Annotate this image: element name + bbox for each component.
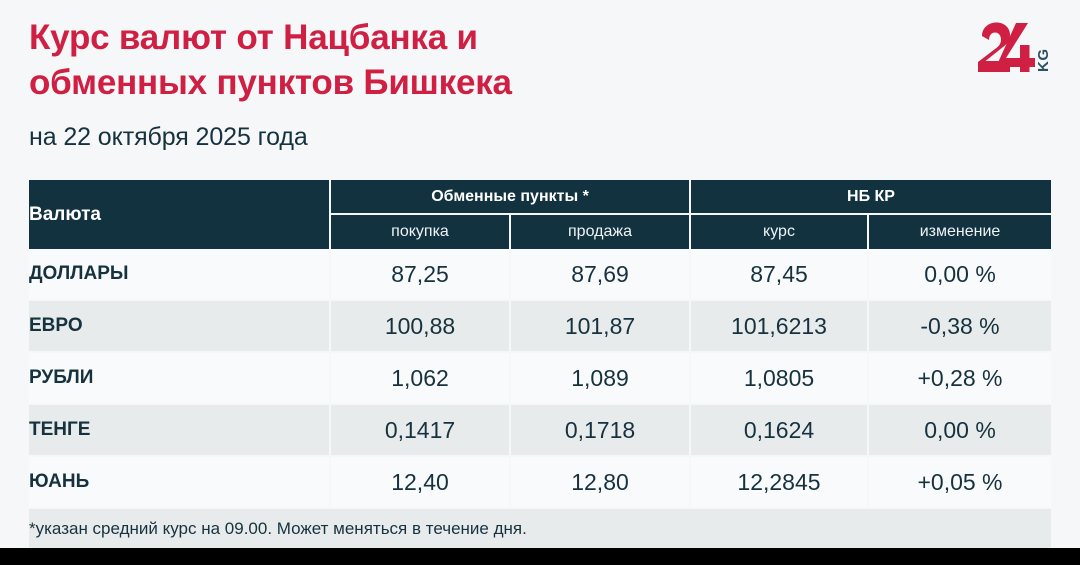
cell-buy: 0,1417 bbox=[331, 405, 511, 457]
cell-rate: 0,1624 bbox=[691, 405, 869, 457]
logo-mark-24 bbox=[978, 23, 1035, 73]
table-row: ЮАНЬ 12,40 12,80 12,2845 +0,05 % bbox=[29, 457, 1051, 509]
cell-change: -0,38 % bbox=[869, 301, 1051, 353]
table-header-group-row: Валюта Обменные пункты * НБ КР bbox=[29, 180, 1051, 213]
cell-currency-name: РУБЛИ bbox=[29, 353, 331, 405]
cell-buy: 87,25 bbox=[331, 249, 511, 301]
cell-buy: 1,062 bbox=[331, 353, 511, 405]
table-row: РУБЛИ 1,062 1,089 1,0805 +0,28 % bbox=[29, 353, 1051, 405]
table-row: ТЕНГЕ 0,1417 0,1718 0,1624 0,00 % bbox=[29, 405, 1051, 457]
cell-change: +0,05 % bbox=[869, 457, 1051, 509]
table-footnote-row: *указан средний курс на 09.00. Может мен… bbox=[29, 509, 1051, 549]
cell-buy: 100,88 bbox=[331, 301, 511, 353]
page-subtitle: на 22 октября 2025 года bbox=[29, 123, 1051, 152]
header-nbkr: НБ КР bbox=[691, 180, 1051, 213]
cell-rate: 1,0805 bbox=[691, 353, 869, 405]
cell-rate: 12,2845 bbox=[691, 457, 869, 509]
cell-rate: 101,6213 bbox=[691, 301, 869, 353]
logo-text-kg: KG bbox=[1035, 49, 1052, 73]
svg-text:KG: KG bbox=[1035, 49, 1052, 73]
cell-currency-name: ЮАНЬ bbox=[29, 457, 331, 509]
bottom-bar bbox=[0, 548, 1080, 565]
table-row: ЕВРО 100,88 101,87 101,6213 -0,38 % bbox=[29, 301, 1051, 353]
header-buy: покупка bbox=[331, 213, 511, 249]
header-rate: курс bbox=[691, 213, 869, 249]
cell-change: 0,00 % bbox=[869, 249, 1051, 301]
header-exchange-points: Обменные пункты * bbox=[331, 180, 691, 213]
cell-change: +0,28 % bbox=[869, 353, 1051, 405]
page-title: Курс валют от Нацбанка и обменных пункто… bbox=[29, 16, 729, 106]
cell-buy: 12,40 bbox=[331, 457, 511, 509]
header-sell: продажа bbox=[511, 213, 691, 249]
table-footnote: *указан средний курс на 09.00. Может мен… bbox=[29, 509, 1051, 549]
cell-rate: 87,45 bbox=[691, 249, 869, 301]
cell-sell: 101,87 bbox=[511, 301, 691, 353]
cell-sell: 1,089 bbox=[511, 353, 691, 405]
header: Курс валют от Нацбанка и обменных пункто… bbox=[29, 16, 1051, 152]
currency-rates-table: Валюта Обменные пункты * НБ КР покупка п… bbox=[29, 180, 1051, 549]
brand-logo-24kg: KG bbox=[976, 22, 1058, 80]
header-change: изменение bbox=[869, 213, 1051, 249]
cell-currency-name: ЕВРО bbox=[29, 301, 331, 353]
logo-icon: KG bbox=[976, 22, 1058, 80]
cell-sell: 0,1718 bbox=[511, 405, 691, 457]
cell-sell: 12,80 bbox=[511, 457, 691, 509]
rates-table-container: Валюта Обменные пункты * НБ КР покупка п… bbox=[29, 180, 1051, 549]
table-body: ДОЛЛАРЫ 87,25 87,69 87,45 0,00 % ЕВРО 10… bbox=[29, 249, 1051, 549]
table-head: Валюта Обменные пункты * НБ КР покупка п… bbox=[29, 180, 1051, 249]
infographic-page: Курс валют от Нацбанка и обменных пункто… bbox=[0, 0, 1080, 565]
cell-currency-name: ДОЛЛАРЫ bbox=[29, 249, 331, 301]
table-row: ДОЛЛАРЫ 87,25 87,69 87,45 0,00 % bbox=[29, 249, 1051, 301]
cell-change: 0,00 % bbox=[869, 405, 1051, 457]
cell-sell: 87,69 bbox=[511, 249, 691, 301]
cell-currency-name: ТЕНГЕ bbox=[29, 405, 331, 457]
header-currency: Валюта bbox=[29, 180, 331, 249]
